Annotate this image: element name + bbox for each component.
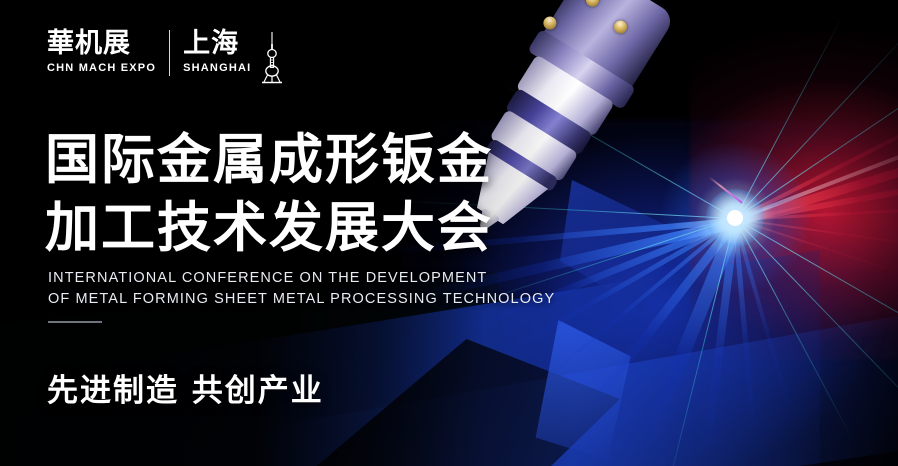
headline-line-2: 加工技术发展大会: [45, 194, 493, 262]
expo-logo-en: CHN MACH EXPO: [47, 63, 156, 74]
headline-line-1: 国际金属成形钣金: [45, 126, 493, 194]
slogan: 先进制造 共创产业: [47, 373, 324, 409]
logo-lockup: 華机展 CHN MACH EXPO 上海 SHANGHAI: [47, 30, 284, 84]
city-logo-cn: 上海: [183, 30, 251, 57]
city-logo-en: SHANGHAI: [183, 63, 251, 74]
subtitle-line-2: OF METAL FORMING SHEET METAL PROCESSING …: [48, 289, 555, 310]
subtitle-line-1: INTERNATIONAL CONFERENCE ON THE DEVELOPM…: [48, 268, 555, 289]
expo-logo: 華机展 CHN MACH EXPO: [47, 30, 156, 74]
oriental-pearl-tower-icon: [260, 32, 284, 84]
divider-rule: [48, 321, 102, 323]
expo-logo-cn: 華机展: [47, 30, 156, 57]
page-title: 国际金属成形钣金 加工技术发展大会: [45, 126, 493, 262]
logo-separator: [169, 30, 170, 76]
subtitle: INTERNATIONAL CONFERENCE ON THE DEVELOPM…: [48, 268, 555, 310]
conference-banner: 華机展 CHN MACH EXPO 上海 SHANGHAI: [0, 0, 898, 466]
banner-content: 華机展 CHN MACH EXPO 上海 SHANGHAI: [0, 0, 898, 466]
city-logo: 上海 SHANGHAI: [183, 30, 251, 74]
